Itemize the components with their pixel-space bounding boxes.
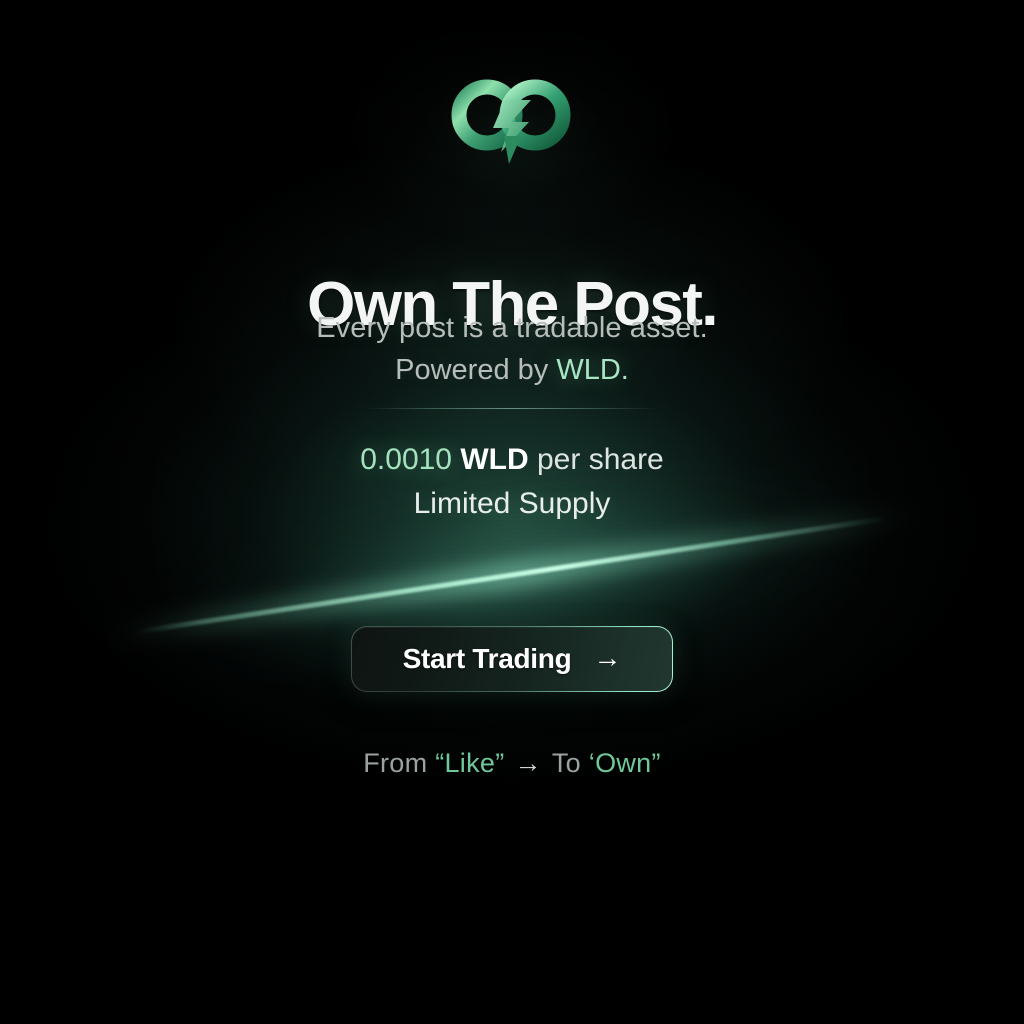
footer-tagline: From “Like”→To ‘Own” (0, 748, 1024, 779)
price-amount: 0.0010 (360, 443, 452, 476)
price-line: 0.0010 WLD per share (0, 443, 1024, 478)
price-unit: per share (537, 443, 664, 476)
tagline-prefix: From (363, 748, 435, 778)
price-ticker: WLD (460, 443, 528, 476)
supply-note: Limited Supply (0, 487, 1024, 522)
wld-token-label: WLD. (556, 354, 629, 386)
cta-container: Start Trading → (351, 626, 673, 692)
tagline-arrow-right-icon: → (505, 748, 552, 778)
tagline-from-term: “Like” (435, 748, 504, 778)
promo-canvas: Own The Post. Every post is a tradable a… (0, 0, 1024, 1024)
powered-by-label: Powered by (395, 354, 556, 386)
subtitle-line-2: Powered by WLD. (0, 354, 1024, 387)
content-layer: Own The Post. Every post is a tradable a… (0, 0, 1024, 1024)
section-divider (367, 408, 657, 409)
interlocking-rings-logo-icon (447, 78, 577, 170)
subtitle-line-1: Every post is a tradable asset. (0, 312, 1024, 345)
arrow-right-icon: → (593, 644, 621, 672)
start-trading-label: Start Trading (403, 643, 572, 675)
start-trading-button[interactable]: Start Trading → (351, 626, 673, 692)
tagline-to-term: ‘Own” (589, 748, 661, 778)
tagline-to-prefix: To (552, 748, 589, 778)
